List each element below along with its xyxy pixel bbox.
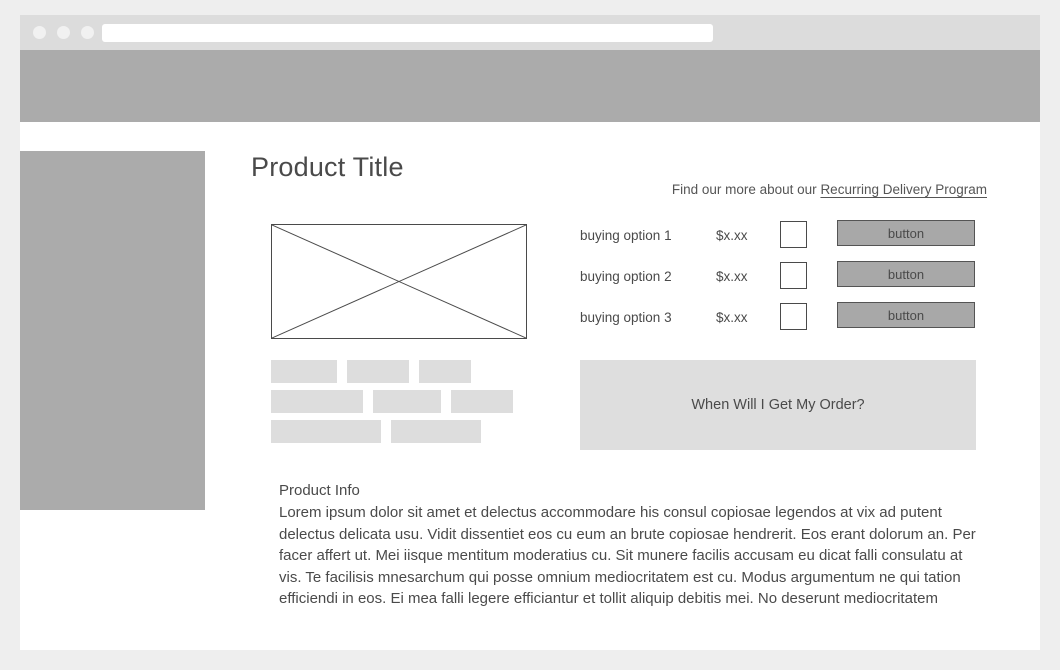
- tag-row: [271, 390, 531, 413]
- buying-option-label: buying option 1: [580, 228, 672, 243]
- tag-chip: [451, 390, 513, 413]
- buying-option-checkbox[interactable]: [780, 221, 807, 248]
- buying-option-price: $x.xx: [716, 269, 748, 284]
- buying-options-list: buying option 1 $x.xx button buying opti…: [580, 220, 985, 343]
- buying-option-row: buying option 1 $x.xx button: [580, 220, 985, 261]
- tag-chip: [271, 390, 363, 413]
- buying-option-button[interactable]: button: [837, 302, 975, 328]
- tag-chip: [419, 360, 471, 383]
- buying-option-price: $x.xx: [716, 228, 748, 243]
- tag-chip: [271, 420, 381, 443]
- buying-option-checkbox[interactable]: [780, 303, 807, 330]
- browser-chrome: [20, 15, 1040, 50]
- product-info-section: Product Info Lorem ipsum dolor sit amet …: [279, 482, 979, 610]
- tag-chip: [373, 390, 441, 413]
- shipping-info-label: When Will I Get My Order?: [691, 397, 864, 413]
- address-bar-input[interactable]: [102, 24, 713, 42]
- minimize-dot-icon[interactable]: [57, 26, 70, 39]
- recurring-delivery-promo: Find our more about our Recurring Delive…: [672, 182, 987, 197]
- crossed-box-icon: [272, 225, 526, 338]
- tag-chip: [271, 360, 337, 383]
- tag-placeholder-cloud: [271, 360, 531, 450]
- shipping-info-panel[interactable]: When Will I Get My Order?: [580, 360, 976, 450]
- hero-banner-placeholder: [20, 50, 1040, 122]
- maximize-dot-icon[interactable]: [81, 26, 94, 39]
- tag-row: [271, 360, 531, 383]
- close-dot-icon[interactable]: [33, 26, 46, 39]
- main-column: Product Title Find our more about our Re…: [251, 122, 991, 650]
- recurring-delivery-program-link[interactable]: Recurring Delivery Program: [820, 182, 987, 197]
- buying-option-checkbox[interactable]: [780, 262, 807, 289]
- product-info-heading: Product Info: [279, 482, 979, 499]
- promo-prefix-text: Find our more about our: [672, 182, 821, 197]
- tag-row: [271, 420, 531, 443]
- buying-option-label: buying option 2: [580, 269, 672, 284]
- page-content: Product Title Find our more about our Re…: [20, 122, 1040, 650]
- tag-chip: [391, 420, 481, 443]
- buying-option-label: buying option 3: [580, 310, 672, 325]
- buying-option-button[interactable]: button: [837, 261, 975, 287]
- buying-option-row: buying option 3 $x.xx button: [580, 302, 985, 343]
- buying-option-price: $x.xx: [716, 310, 748, 325]
- sidebar-placeholder-block: [20, 151, 205, 510]
- buying-option-row: buying option 2 $x.xx button: [580, 261, 985, 302]
- tag-chip: [347, 360, 409, 383]
- product-info-body: Lorem ipsum dolor sit amet et delectus a…: [279, 502, 979, 610]
- product-image-placeholder[interactable]: [271, 224, 527, 339]
- page-title: Product Title: [251, 152, 404, 183]
- window-controls: [33, 26, 94, 39]
- browser-window: Product Title Find our more about our Re…: [20, 15, 1040, 650]
- buying-option-button[interactable]: button: [837, 220, 975, 246]
